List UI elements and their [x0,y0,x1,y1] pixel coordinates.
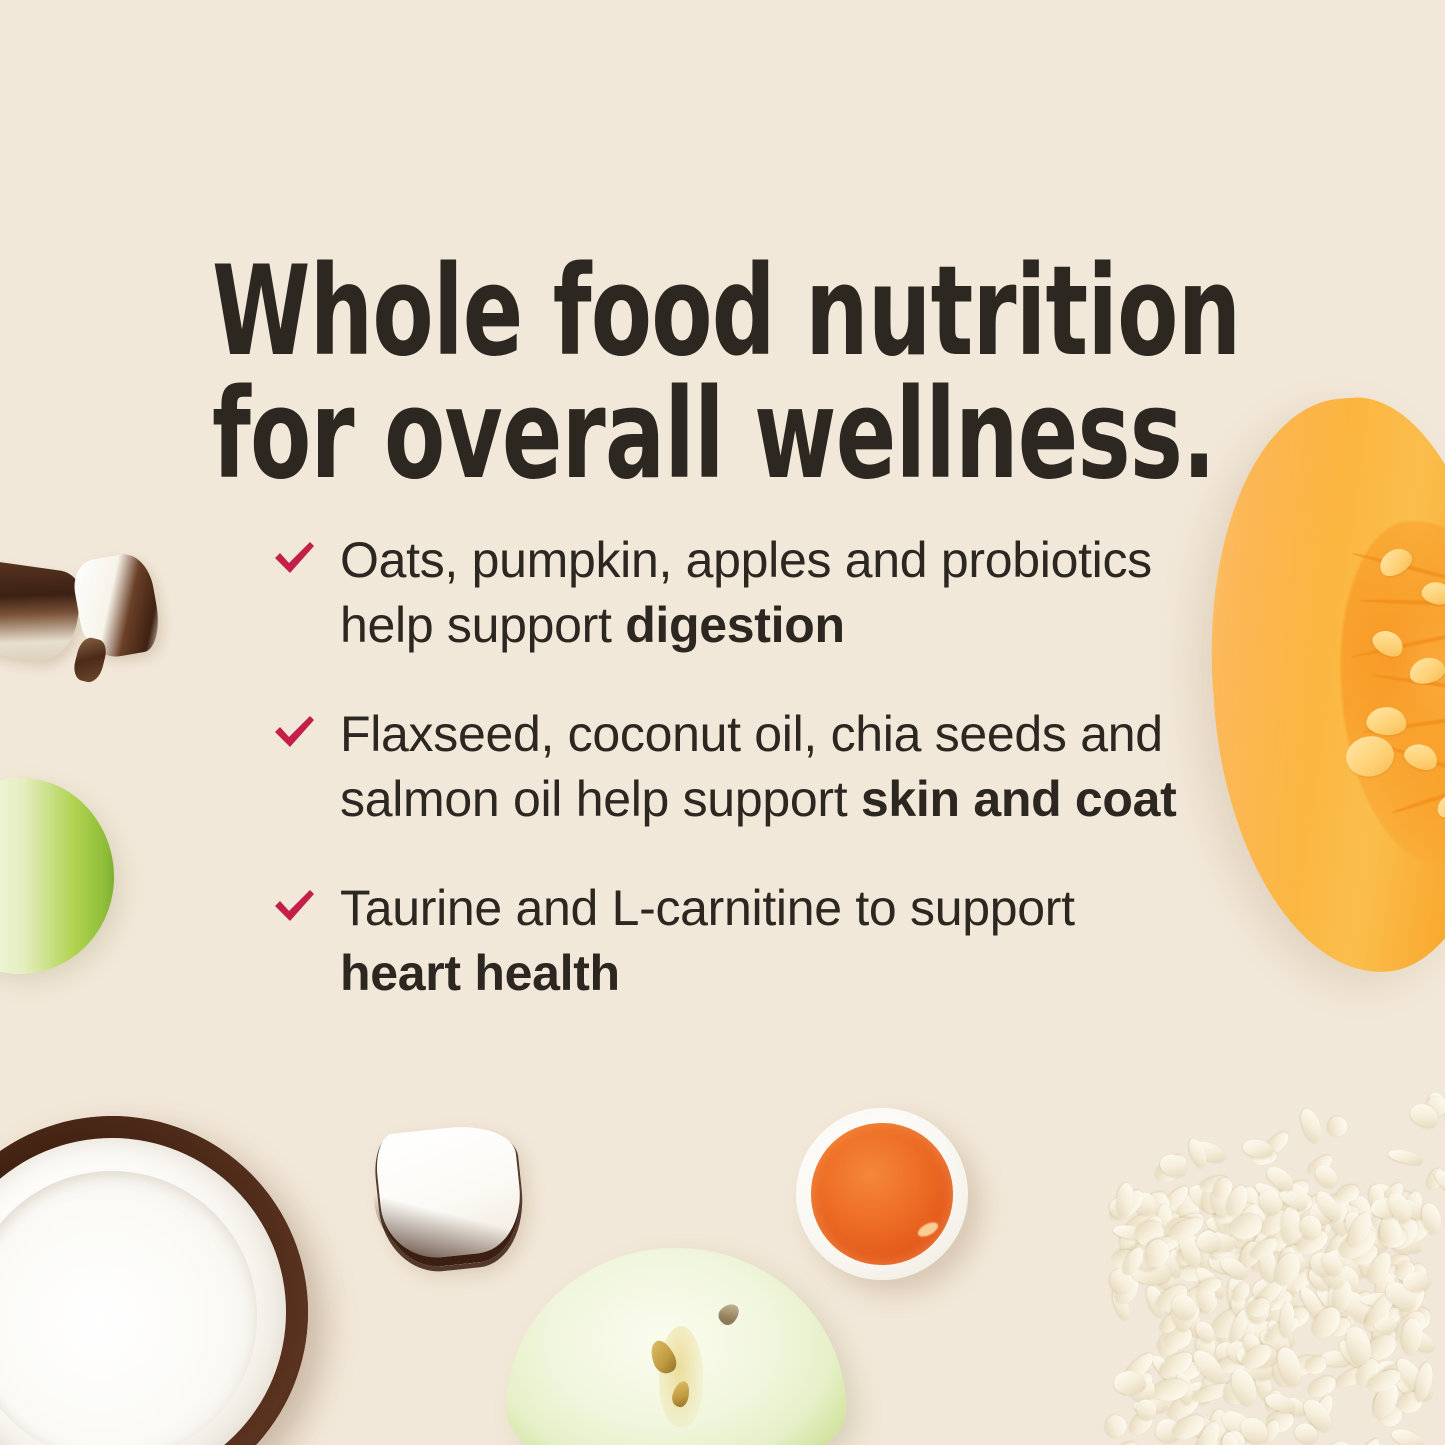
oat-flake [1114,1371,1145,1394]
list-item-text: Oats, pumpkin, apples and probiotics hel… [340,532,1152,653]
oat-flake [1348,1436,1384,1445]
list-item-text: Flaxseed, coconut oil, chia seeds and sa… [340,706,1177,827]
salmon-oil-bowl-image [796,1108,968,1280]
apple-core [659,1326,703,1427]
list-item: Oats, pumpkin, apples and probiotics hel… [268,528,1198,658]
list-item-text-emphasis: skin and coat [861,771,1177,827]
oat-flake [1326,1115,1349,1138]
coconut-wedge-image [373,1121,527,1272]
list-item: Taurine and L-carnitine to support heart… [268,876,1198,1006]
pumpkin-half-image [1193,389,1445,983]
list-item-text: Taurine and L-carnitine to support heart… [340,880,1075,1001]
headline-line-2: for overall wellness. [212,374,1060,497]
check-icon [270,536,318,584]
list-item-text-plain: Taurine and L-carnitine to support [340,880,1075,936]
list-item: Flaxseed, coconut oil, chia seeds and sa… [268,702,1198,832]
poster-canvas: Whole food nutrition for overall wellnes… [0,0,1445,1445]
headline-line-1: Whole food nutrition [212,251,1060,374]
oat-flake [1297,1106,1324,1145]
green-apple-slice-image [0,766,127,987]
coconut-half-image [0,1116,308,1445]
benefit-list: Oats, pumpkin, apples and probiotics hel… [268,528,1198,1006]
oat-flake [1389,1426,1425,1445]
oat-flake [1111,1438,1143,1445]
page-title: Whole food nutrition for overall wellnes… [212,251,1060,497]
oat-flake [1263,1390,1298,1415]
check-icon [270,710,318,758]
oat-flake [1327,1438,1359,1445]
oat-flake [1105,1414,1128,1438]
check-icon [270,884,318,932]
green-apple-half-image [506,1248,846,1445]
oat-flake [1387,1147,1424,1167]
apple-seed [715,1300,743,1328]
list-item-text-emphasis: digestion [625,597,845,653]
rolled-oats-image [1105,1095,1445,1445]
list-item-text-emphasis: heart health [340,945,620,1001]
coconut-chunk-image [71,635,109,684]
coconut-chunk-image [0,559,84,665]
salmon-oil-surface [811,1123,952,1264]
coconut-wedge-husk [368,1120,532,1263]
